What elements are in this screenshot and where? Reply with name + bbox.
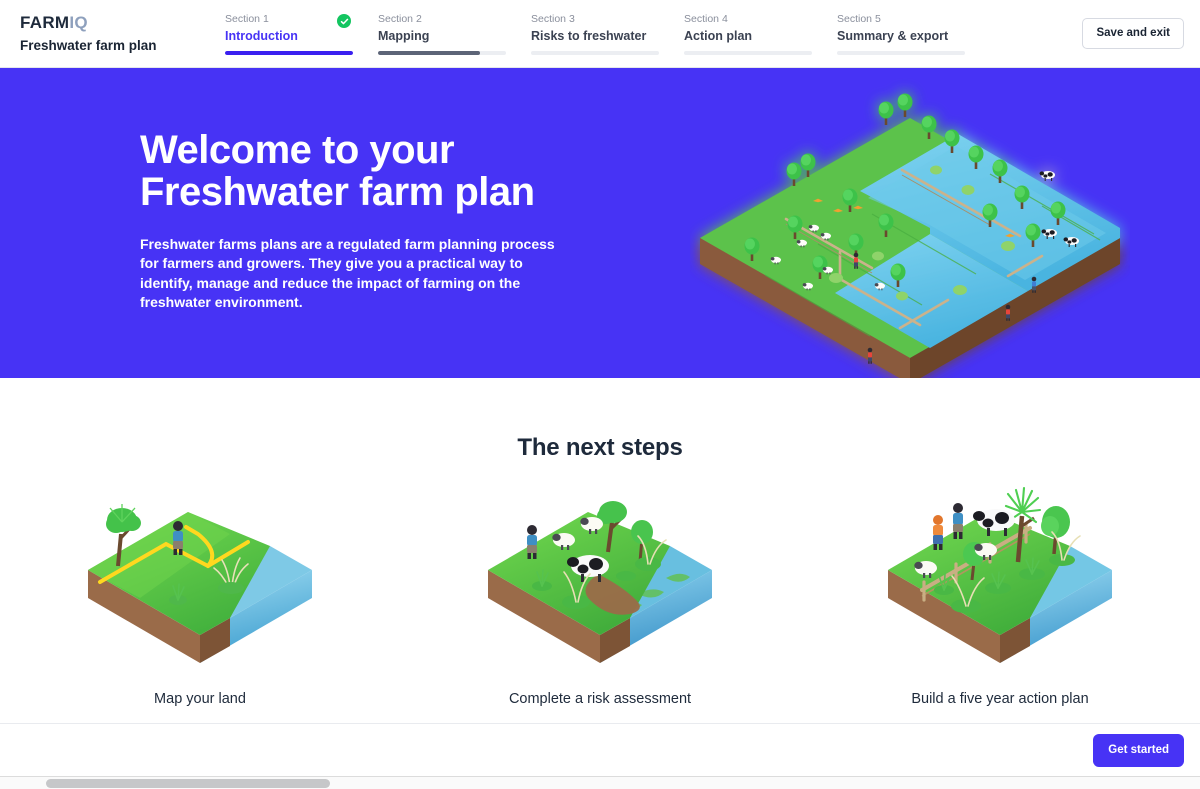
save-and-exit-button[interactable]: Save and exit xyxy=(1082,18,1184,49)
step-number: Section 3 xyxy=(531,13,684,26)
step-section-2[interactable]: Section 2 Mapping xyxy=(378,13,531,45)
step-number: Section 2 xyxy=(378,13,531,26)
step-section-4[interactable]: Section 4 Action plan xyxy=(684,13,837,45)
map-your-land-illustration xyxy=(80,478,320,673)
next-steps-section: The next steps xyxy=(0,378,1200,726)
card-label: Build a five year action plan xyxy=(911,691,1088,708)
hero-farm-illustration xyxy=(690,78,1130,378)
step-progress-bar xyxy=(837,51,965,55)
brand: FARMIQ Freshwater farm plan xyxy=(20,14,157,53)
next-steps-cards: Map your land xyxy=(0,478,1200,708)
horizontal-scrollbar[interactable] xyxy=(0,776,1200,789)
step-title: Risks to freshwater xyxy=(531,29,684,45)
step-title: Introduction xyxy=(225,29,378,45)
footer-bar: Get started xyxy=(0,723,1200,776)
next-step-card-map-your-land[interactable]: Map your land xyxy=(30,478,370,708)
step-section-3[interactable]: Section 3 Risks to freshwater xyxy=(531,13,684,45)
logo-farm-text: FARM xyxy=(20,13,69,32)
card-label: Map your land xyxy=(154,691,246,708)
card-label: Complete a risk assessment xyxy=(509,691,691,708)
step-title: Summary & export xyxy=(837,29,990,45)
step-section-5[interactable]: Section 5 Summary & export xyxy=(837,13,990,45)
farmiq-logo: FARMIQ xyxy=(20,14,157,31)
hero-text-block: Welcome to your Freshwater farm plan Fre… xyxy=(140,130,570,312)
step-progress-bar xyxy=(378,51,506,55)
app-subtitle: Freshwater farm plan xyxy=(20,39,157,53)
hero-title-line-1: Welcome to your xyxy=(140,130,570,172)
hero-description: Freshwater farms plans are a regulated f… xyxy=(140,235,570,312)
step-progress-bar xyxy=(225,51,353,55)
step-number: Section 5 xyxy=(837,13,990,26)
check-circle-icon xyxy=(337,14,351,28)
hero-title-line-2: Freshwater farm plan xyxy=(140,172,570,214)
step-progress-bar xyxy=(684,51,812,55)
scrollbar-thumb[interactable] xyxy=(46,779,330,788)
next-step-card-action-plan[interactable]: Build a five year action plan xyxy=(830,478,1170,708)
step-section-1[interactable]: Section 1 Introduction xyxy=(225,13,378,45)
step-progress-fill xyxy=(378,51,480,55)
step-progress-bar xyxy=(531,51,659,55)
app-header: FARMIQ Freshwater farm plan Section 1 In… xyxy=(0,0,1200,68)
step-number: Section 1 xyxy=(225,13,378,26)
action-plan-illustration xyxy=(880,478,1120,673)
hero-title: Welcome to your Freshwater farm plan xyxy=(140,130,570,213)
next-step-card-risk-assessment[interactable]: Complete a risk assessment xyxy=(430,478,770,708)
section-progress-nav: Section 1 Introduction Section 2 Mapping… xyxy=(225,13,990,45)
freshwater-farm-plan-page: FARMIQ Freshwater farm plan Section 1 In… xyxy=(0,0,1200,789)
step-title: Action plan xyxy=(684,29,837,45)
get-started-button[interactable]: Get started xyxy=(1093,734,1184,767)
risk-assessment-illustration xyxy=(480,478,720,673)
next-steps-title: The next steps xyxy=(0,434,1200,462)
hero-banner: Welcome to your Freshwater farm plan Fre… xyxy=(0,68,1200,378)
step-title: Mapping xyxy=(378,29,531,45)
step-number: Section 4 xyxy=(684,13,837,26)
step-progress-fill xyxy=(225,51,353,55)
logo-iq-text: IQ xyxy=(69,13,88,32)
